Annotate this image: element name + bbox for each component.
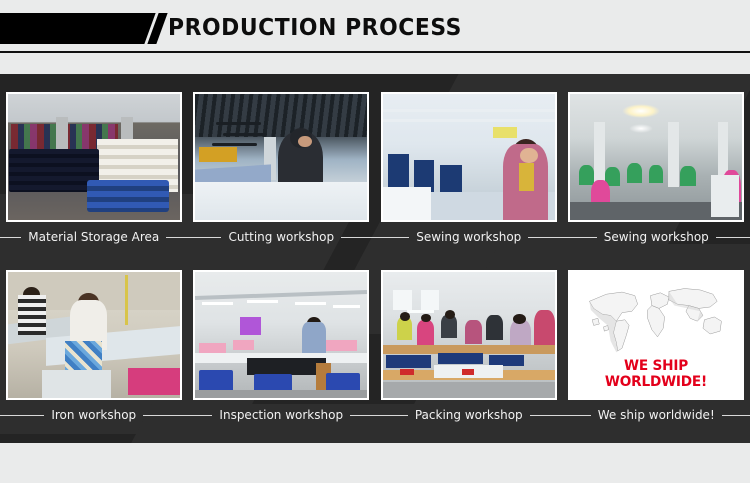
gallery-row: WE SHIP WORLDWIDE! — [0, 252, 750, 400]
caption-rule-left — [563, 415, 591, 416]
gallery-cell[interactable] — [0, 252, 188, 400]
caption-label: Cutting workshop — [228, 230, 334, 244]
photo-frame[interactable] — [193, 270, 369, 400]
gallery-panel: Material Storage Area Cutting workshop S… — [0, 74, 750, 443]
gallery-row — [0, 74, 750, 222]
photo-iron-workshop[interactable] — [8, 272, 180, 398]
gallery-cell[interactable] — [375, 74, 563, 222]
caption-inspection-workshop: Inspection workshop — [188, 400, 376, 430]
caption-rule-left — [375, 237, 409, 238]
caption-rule-right — [528, 237, 562, 238]
gallery-cell[interactable]: WE SHIP WORLDWIDE! — [563, 252, 750, 400]
caption-rule-right — [350, 415, 375, 416]
photo-frame[interactable] — [381, 92, 557, 222]
world-map-icon — [577, 280, 735, 358]
caption-label: Inspection workshop — [219, 408, 343, 422]
caption-rule-right — [722, 415, 750, 416]
caption-label: Material Storage Area — [28, 230, 159, 244]
photo-inspection-workshop[interactable] — [195, 272, 367, 398]
caption-row: Iron workshop Inspection workshop Packin… — [0, 400, 750, 430]
caption-sewing-workshop-2: Sewing workshop — [563, 222, 750, 252]
photo-frame[interactable] — [381, 270, 557, 400]
caption-label: Iron workshop — [51, 408, 136, 422]
header-divider — [0, 51, 750, 53]
caption-we-ship-worldwide: We ship worldwide! — [563, 400, 750, 430]
caption-rule-right — [716, 237, 750, 238]
page-title: PRODUCTION PROCESS — [168, 12, 462, 44]
gallery-cell[interactable] — [563, 74, 750, 222]
caption-label: We ship worldwide! — [598, 408, 715, 422]
production-process-page: PRODUCTION PROCESS — [0, 0, 750, 483]
caption-rule-left — [0, 237, 21, 238]
gallery-cell[interactable] — [0, 74, 188, 222]
caption-rule-right — [530, 415, 563, 416]
caption-rule-right — [341, 237, 375, 238]
caption-packing-workshop: Packing workshop — [375, 400, 563, 430]
caption-label: Packing workshop — [415, 408, 523, 422]
caption-material-storage-area: Material Storage Area — [0, 222, 188, 252]
caption-row: Material Storage Area Cutting workshop S… — [0, 222, 750, 252]
caption-rule-left — [188, 415, 213, 416]
caption-cutting-workshop: Cutting workshop — [188, 222, 376, 252]
caption-rule-left — [563, 237, 597, 238]
caption-rule-left — [0, 415, 44, 416]
photo-frame[interactable]: WE SHIP WORLDWIDE! — [568, 270, 744, 400]
caption-sewing-workshop-1: Sewing workshop — [375, 222, 563, 252]
caption-label: Sewing workshop — [416, 230, 521, 244]
ship-worldwide-text: WE SHIP WORLDWIDE! — [575, 358, 737, 390]
photo-material-storage-area[interactable] — [8, 94, 180, 220]
caption-label: Sewing workshop — [604, 230, 709, 244]
gallery-grid: Material Storage Area Cutting workshop S… — [0, 74, 750, 430]
caption-rule-right — [166, 237, 187, 238]
caption-iron-workshop: Iron workshop — [0, 400, 188, 430]
photo-packing-workshop[interactable] — [383, 272, 555, 398]
photo-frame[interactable] — [193, 92, 369, 222]
photo-frame[interactable] — [6, 92, 182, 222]
photo-sewing-workshop-1[interactable] — [383, 94, 555, 220]
photo-cutting-workshop[interactable] — [195, 94, 367, 220]
photo-we-ship-worldwide[interactable]: WE SHIP WORLDWIDE! — [570, 272, 742, 398]
photo-sewing-workshop-2[interactable] — [570, 94, 742, 220]
header-black-bar — [0, 13, 148, 44]
caption-rule-left — [375, 415, 408, 416]
photo-frame[interactable] — [568, 92, 744, 222]
caption-rule-right — [143, 415, 187, 416]
gallery-cell[interactable] — [188, 252, 376, 400]
caption-rule-left — [188, 237, 222, 238]
gallery-cell[interactable] — [188, 74, 376, 222]
page-header: PRODUCTION PROCESS — [0, 0, 750, 60]
photo-frame[interactable] — [6, 270, 182, 400]
gallery-cell[interactable] — [375, 252, 563, 400]
